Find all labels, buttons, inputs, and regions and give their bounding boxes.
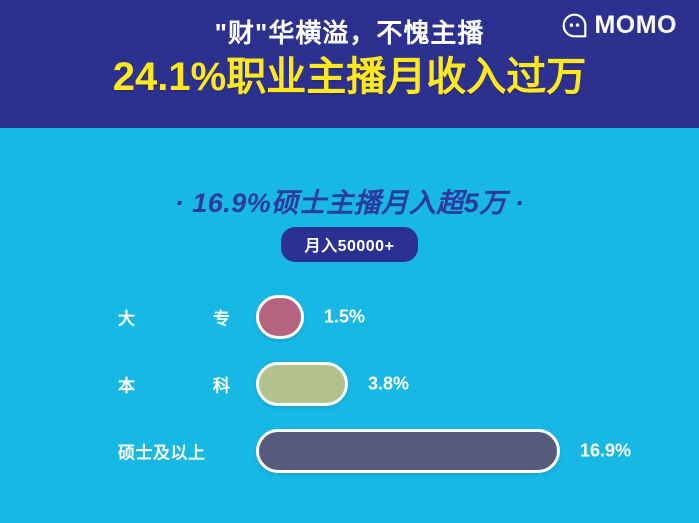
bar-category-char: 本 <box>118 371 135 396</box>
chart-row: 大 专 1.5% <box>0 283 699 350</box>
chart-row: 本 科 3.8% <box>0 350 699 417</box>
body-area: · 16.9%硕士主播月入超5万 · 月入50000+ 大 专 1.5% 本 <box>0 128 699 523</box>
bar-fill <box>256 429 560 473</box>
momo-logo-text: MOMO <box>594 12 677 39</box>
chart-row: 硕士及以上 16.9% <box>0 417 699 484</box>
bar-fill <box>256 362 348 406</box>
badge-row: 月入50000+ <box>0 227 699 262</box>
header-band: "财"华横溢，不愧主播 24.1%职业主播月收入过万 MOMO <box>0 0 699 128</box>
header-headline: 24.1%职业主播月收入过万 <box>0 52 699 102</box>
bar-value-label: 16.9% <box>580 440 631 461</box>
bar-track: 1.5% <box>256 295 676 339</box>
momo-chat-bubble-icon <box>561 12 588 39</box>
income-badge: 月入50000+ <box>281 227 419 262</box>
bar-track: 3.8% <box>256 362 676 406</box>
bar-category-char: 大 <box>118 304 135 329</box>
bar-category-label: 本 科 <box>118 371 230 396</box>
momo-logo: MOMO <box>561 10 677 40</box>
bar-category-label: 大 专 <box>118 304 230 329</box>
education-income-bar-chart: 大 专 1.5% 本 科 3.8% <box>0 283 699 484</box>
infographic-poster: "财"华横溢，不愧主播 24.1%职业主播月收入过万 MOMO · 16.9%硕… <box>0 0 699 523</box>
body-subtitle: · 16.9%硕士主播月入超5万 · <box>0 181 699 220</box>
bar-value-label: 1.5% <box>324 306 365 327</box>
bar-fill <box>256 295 304 339</box>
bar-value-label: 3.8% <box>368 373 409 394</box>
bar-track: 16.9% <box>256 429 676 473</box>
bar-category-char: 专 <box>213 304 230 329</box>
bar-category-char: 科 <box>213 371 230 396</box>
bar-category-label: 硕士及以上 <box>118 438 230 463</box>
